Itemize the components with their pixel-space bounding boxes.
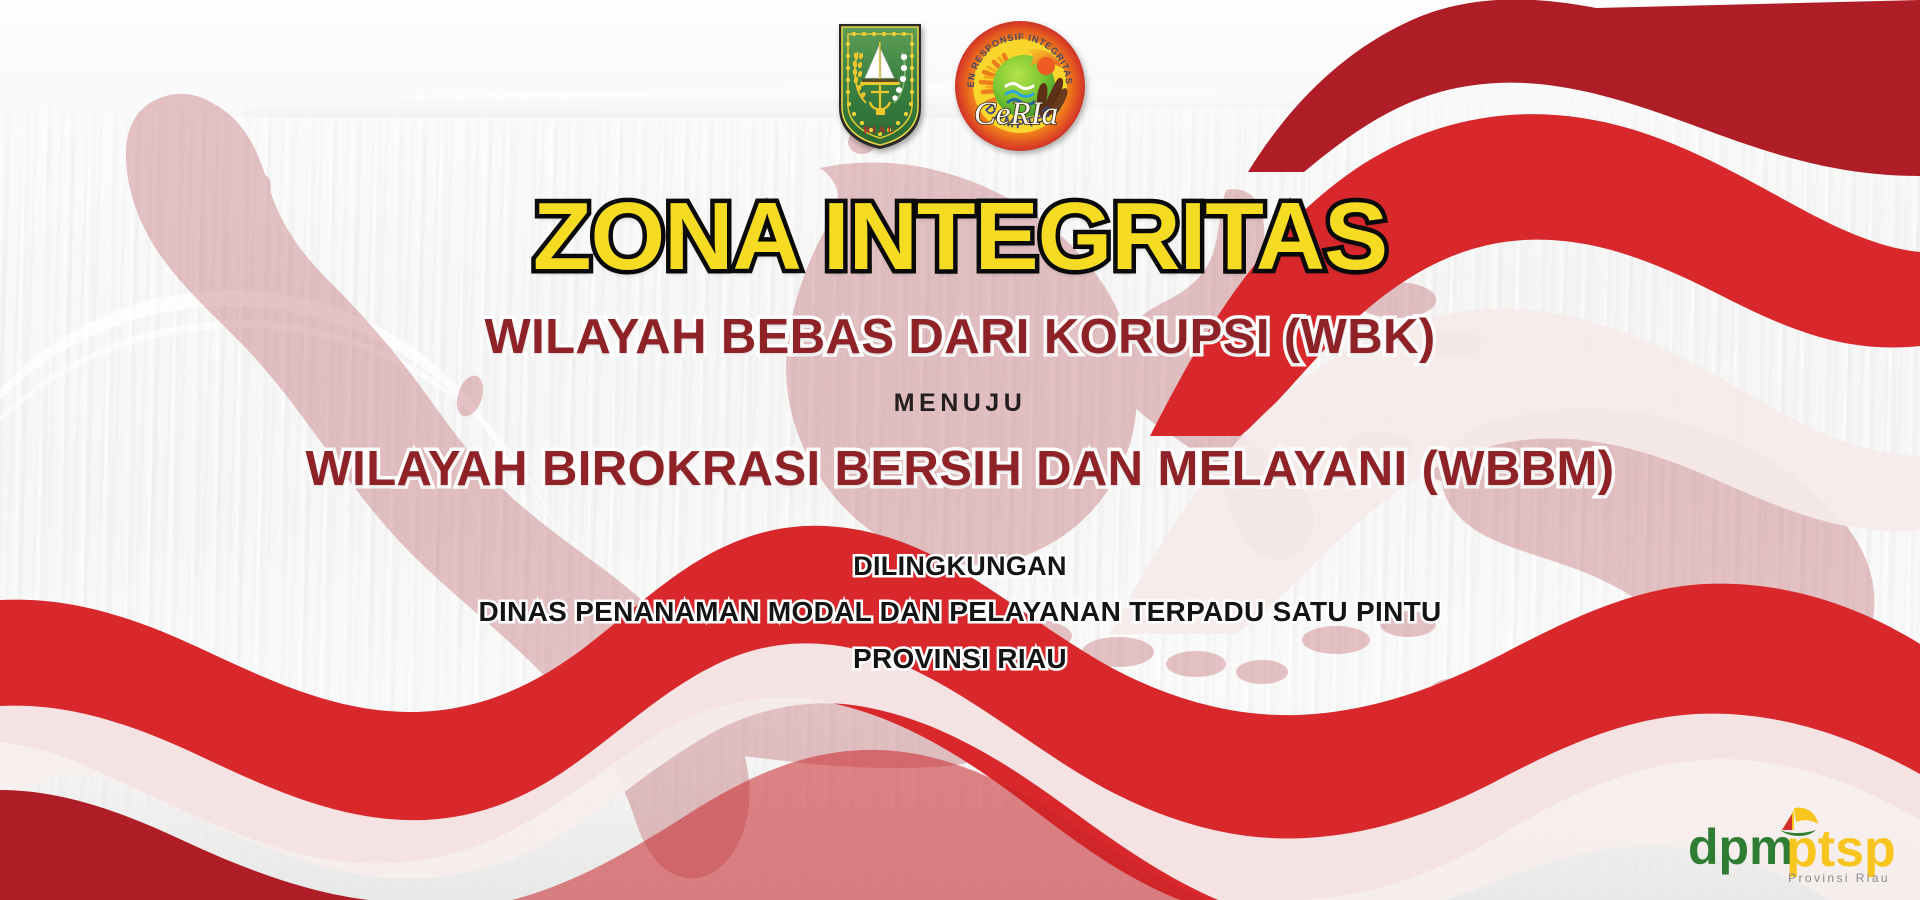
page-title: ZONA INTEGRITAS bbox=[533, 188, 1387, 286]
logo-tagline: Provinsi Riau bbox=[1788, 871, 1890, 885]
banner-text-block: ZONA INTEGRITAS WILAYAH BEBAS DARI KORUP… bbox=[0, 0, 1920, 900]
footer-institution: DINAS PENANAMAN MODAL DAN PELAYANAN TERP… bbox=[478, 592, 1441, 633]
dpmptsp-wordmark-icon: dpm ptsp Provinsi Riau bbox=[1682, 786, 1898, 886]
subtitle-wbk: WILAYAH BEBAS DARI KORUPSI (WBK) bbox=[484, 312, 1435, 363]
subtitle-wbbm: WILAYAH BIROKRASI BERSIH DAN MELAYANI (W… bbox=[306, 444, 1615, 495]
logo-word-dpm: dpm bbox=[1688, 819, 1794, 875]
zona-integritas-banner: RIAU bbox=[0, 0, 1920, 900]
footer-scope-label: DILINGKUNGAN bbox=[478, 550, 1441, 582]
connector-label: MENUJU bbox=[894, 389, 1027, 418]
footer-region: PROVINSI RIAU bbox=[478, 639, 1441, 680]
footer-text-group: DILINGKUNGAN DINAS PENANAMAN MODAL DAN P… bbox=[478, 550, 1441, 680]
logo-word-ptsp: ptsp bbox=[1786, 820, 1896, 878]
